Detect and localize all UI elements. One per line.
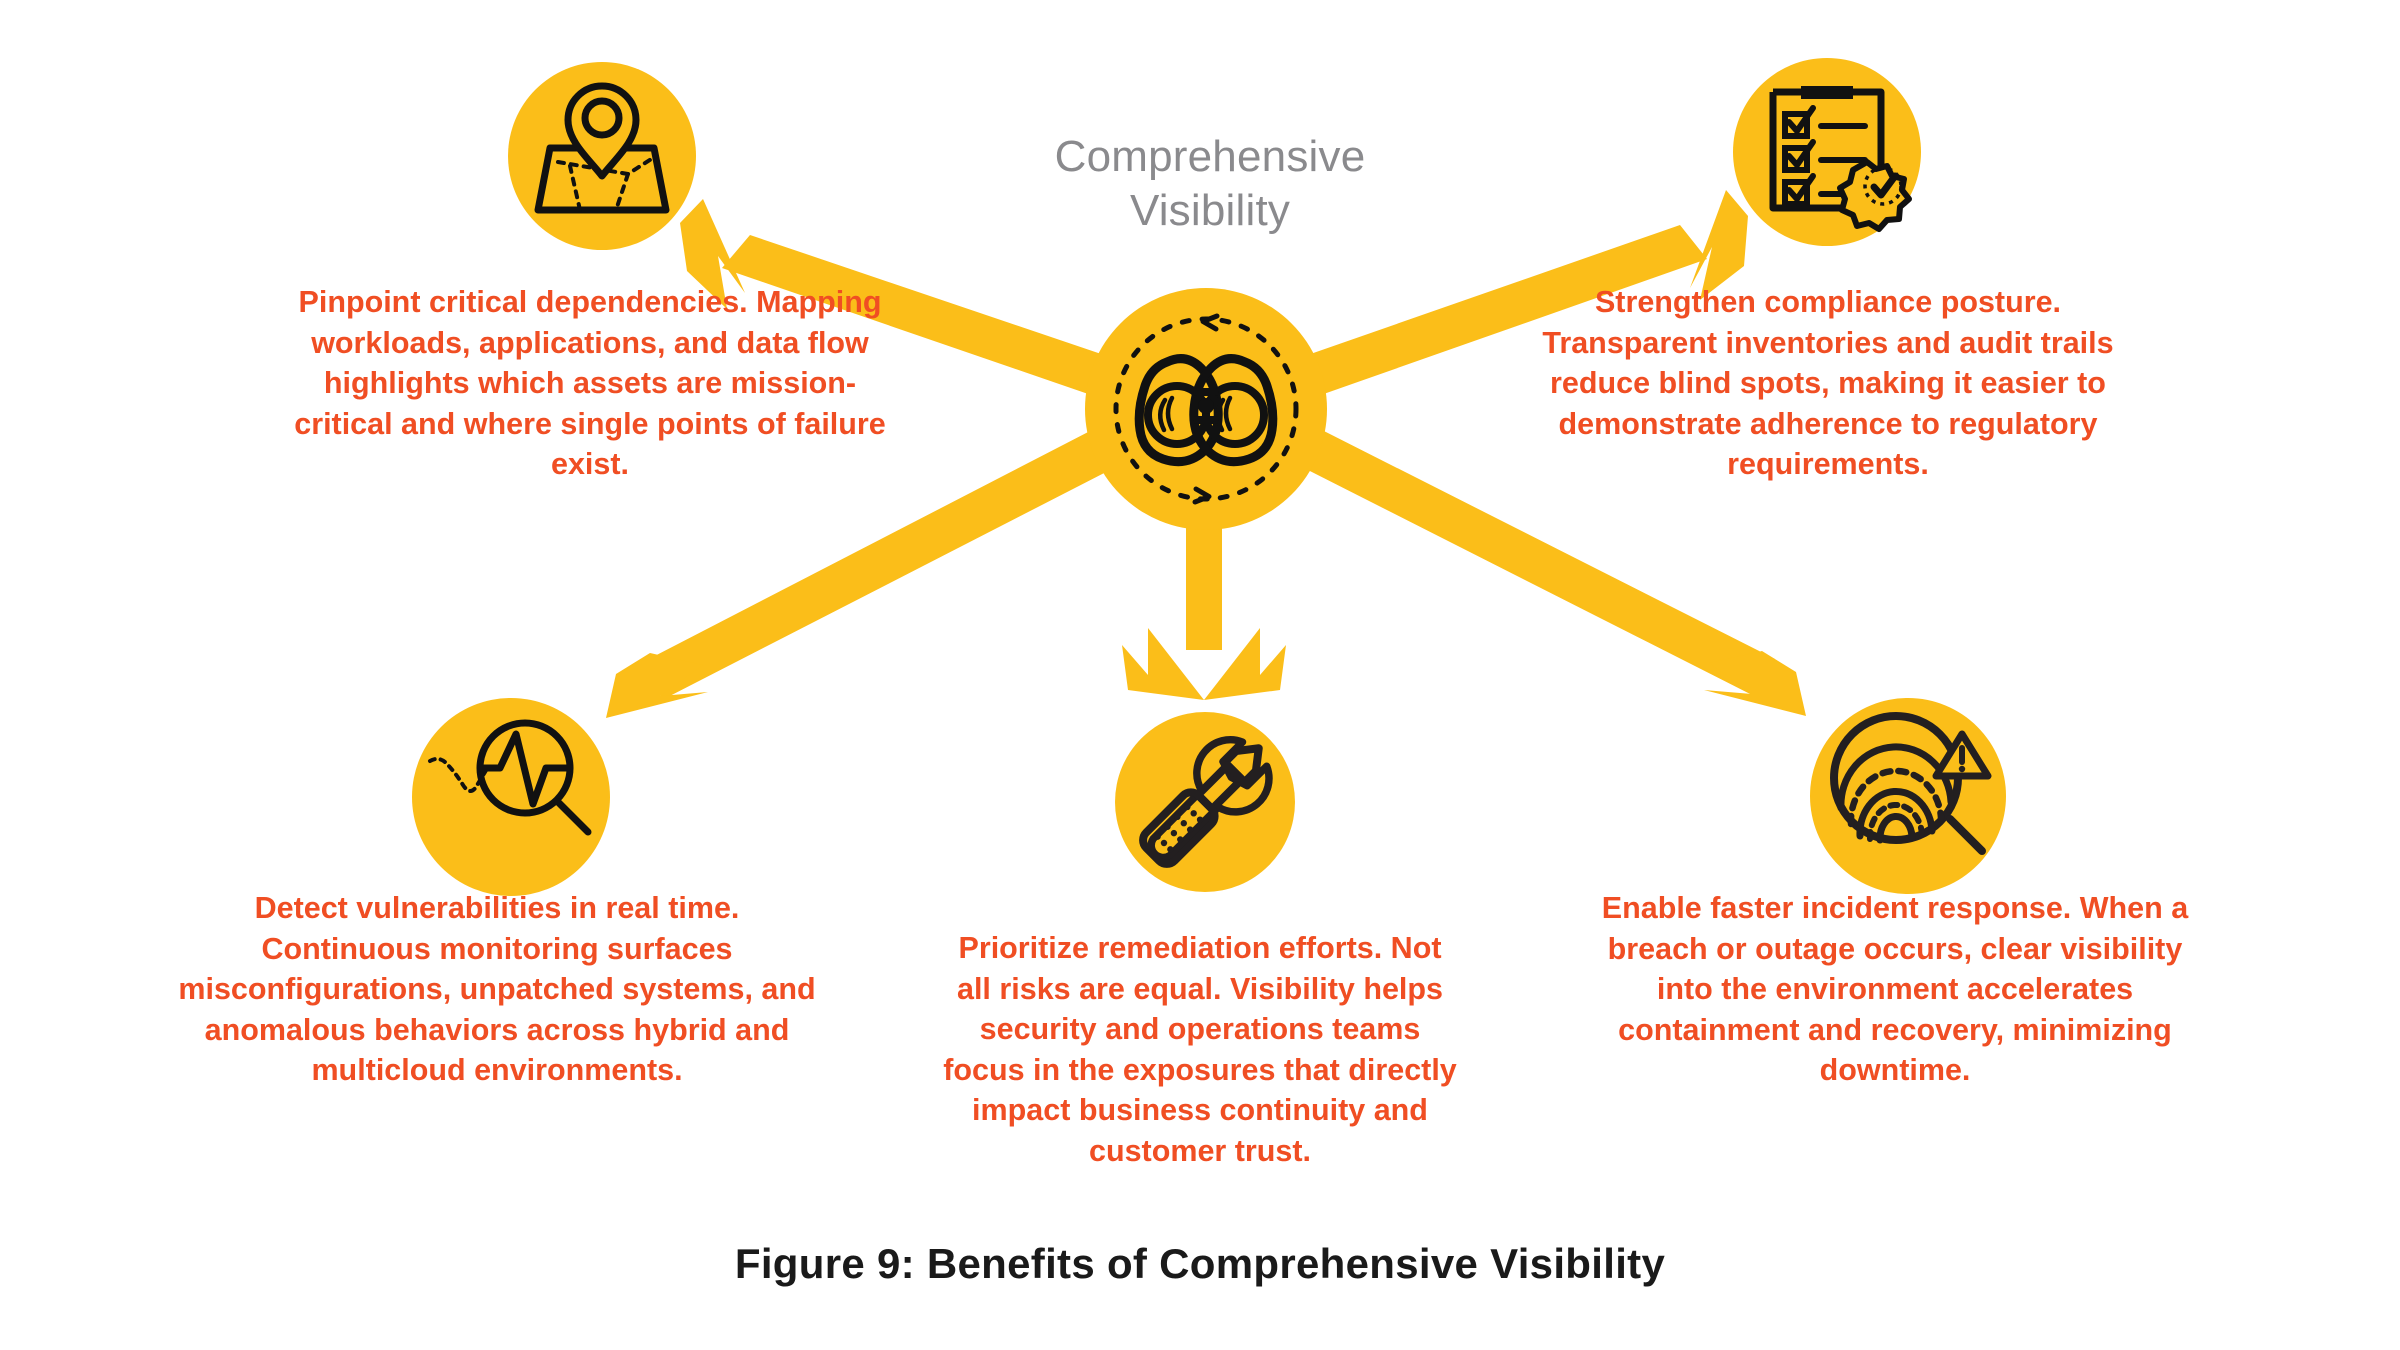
blurb-body: Transparent inventories and audit trails… bbox=[1542, 326, 2113, 482]
blurb-lead: Detect vulnerabilities in real time. bbox=[255, 891, 740, 925]
blurb-pinpoint-dependencies: Pinpoint critical dependencies. Mapping … bbox=[290, 282, 890, 485]
blurb-prioritize-remediation: Prioritize remediation efforts. Not all … bbox=[940, 928, 1460, 1171]
node-icon-compliance-posture[interactable] bbox=[1733, 58, 1921, 246]
blurb-lead: Enable faster incident response. bbox=[1602, 891, 2072, 925]
blurb-body: Not all risks are equal. Visibility help… bbox=[943, 931, 1457, 1168]
hub-title: Comprehensive Visibility bbox=[960, 130, 1460, 237]
magnifier-pulse-icon bbox=[412, 698, 610, 896]
node-icon-detect-vulnerabilities[interactable] bbox=[412, 698, 610, 896]
map-pin-icon bbox=[508, 62, 696, 250]
diagram-canvas: Comprehensive Visibility bbox=[0, 0, 2400, 1350]
blurb-detect-vulnerabilities: Detect vulnerabilities in real time. Con… bbox=[172, 888, 822, 1091]
figure-caption: Figure 9: Benefits of Comprehensive Visi… bbox=[0, 1240, 2400, 1288]
blurb-lead: Prioritize remediation efforts. bbox=[958, 931, 1382, 965]
hub-node-comprehensive-visibility[interactable] bbox=[1085, 288, 1327, 530]
blurb-lead: Strengthen compliance posture. bbox=[1595, 285, 2061, 319]
fingerprint-magnifier-alert-icon bbox=[1810, 698, 2006, 894]
hub-title-line-1: Comprehensive bbox=[960, 130, 1460, 184]
node-icon-pinpoint-dependencies[interactable] bbox=[508, 62, 696, 250]
clipboard-checklist-badge-icon bbox=[1733, 58, 1921, 246]
wrench-screwdriver-icon bbox=[1115, 712, 1295, 892]
binoculars-icon bbox=[1085, 288, 1327, 530]
node-icon-faster-incident-response[interactable] bbox=[1810, 698, 2006, 894]
blurb-lead: Pinpoint critical dependencies. bbox=[299, 285, 748, 319]
blurb-compliance-posture: Strengthen compliance posture. Transpare… bbox=[1528, 282, 2128, 485]
blurb-faster-incident-response: Enable faster incident response. When a … bbox=[1590, 888, 2200, 1091]
hub-title-line-2: Visibility bbox=[960, 184, 1460, 238]
blurb-body: Continuous monitoring surfaces misconfig… bbox=[178, 932, 815, 1088]
node-icon-prioritize-remediation[interactable] bbox=[1115, 712, 1295, 892]
